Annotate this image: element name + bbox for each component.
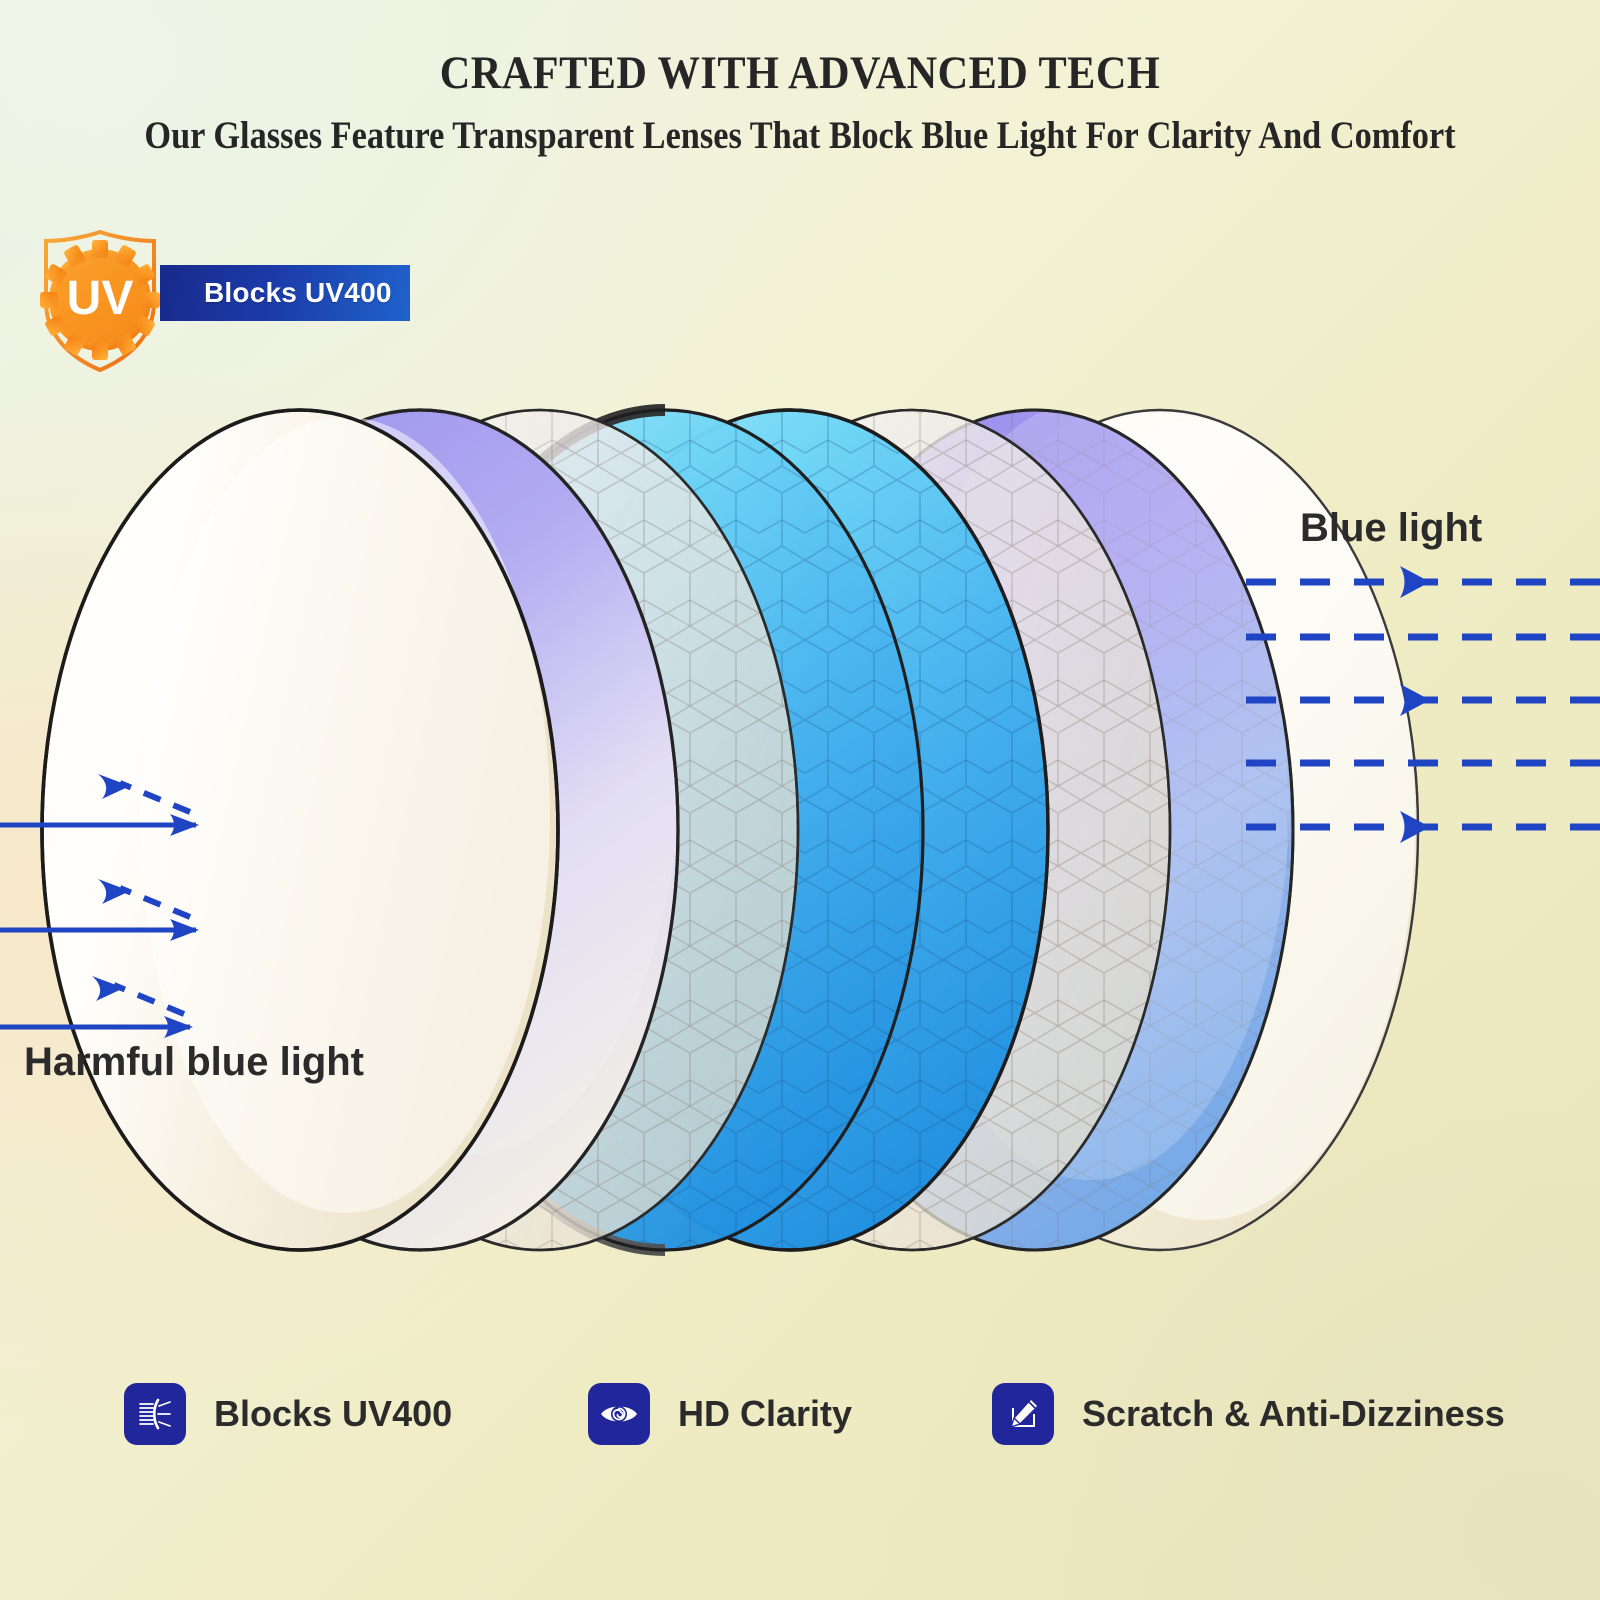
feature-label: HD Clarity — [678, 1393, 852, 1435]
lens-layer-outer-clear — [42, 410, 558, 1250]
feature-item-blocks-uv400[interactable]: Blocks UV400 — [124, 1383, 452, 1445]
eye-icon — [588, 1383, 650, 1445]
uv-block-lens-icon — [124, 1383, 186, 1445]
feature-list: Blocks UV400 HD Clarity — [0, 1383, 1600, 1493]
incoming-ray-label: Blue light — [1300, 506, 1482, 551]
feature-item-hd-clarity[interactable]: HD Clarity — [588, 1383, 852, 1445]
feature-label: Scratch & Anti-Dizziness — [1082, 1393, 1505, 1435]
infographic-canvas: CRAFTED WITH ADVANCED TECH Our Glasses F… — [0, 0, 1600, 1600]
reflected-ray-label: Harmful blue light — [24, 1040, 364, 1085]
feature-label: Blocks UV400 — [214, 1393, 452, 1435]
feature-item-scratch-anti-dizziness[interactable]: Scratch & Anti-Dizziness — [992, 1383, 1505, 1445]
pencil-scratch-icon — [992, 1383, 1054, 1445]
lens-layer-stack — [0, 0, 1600, 1600]
